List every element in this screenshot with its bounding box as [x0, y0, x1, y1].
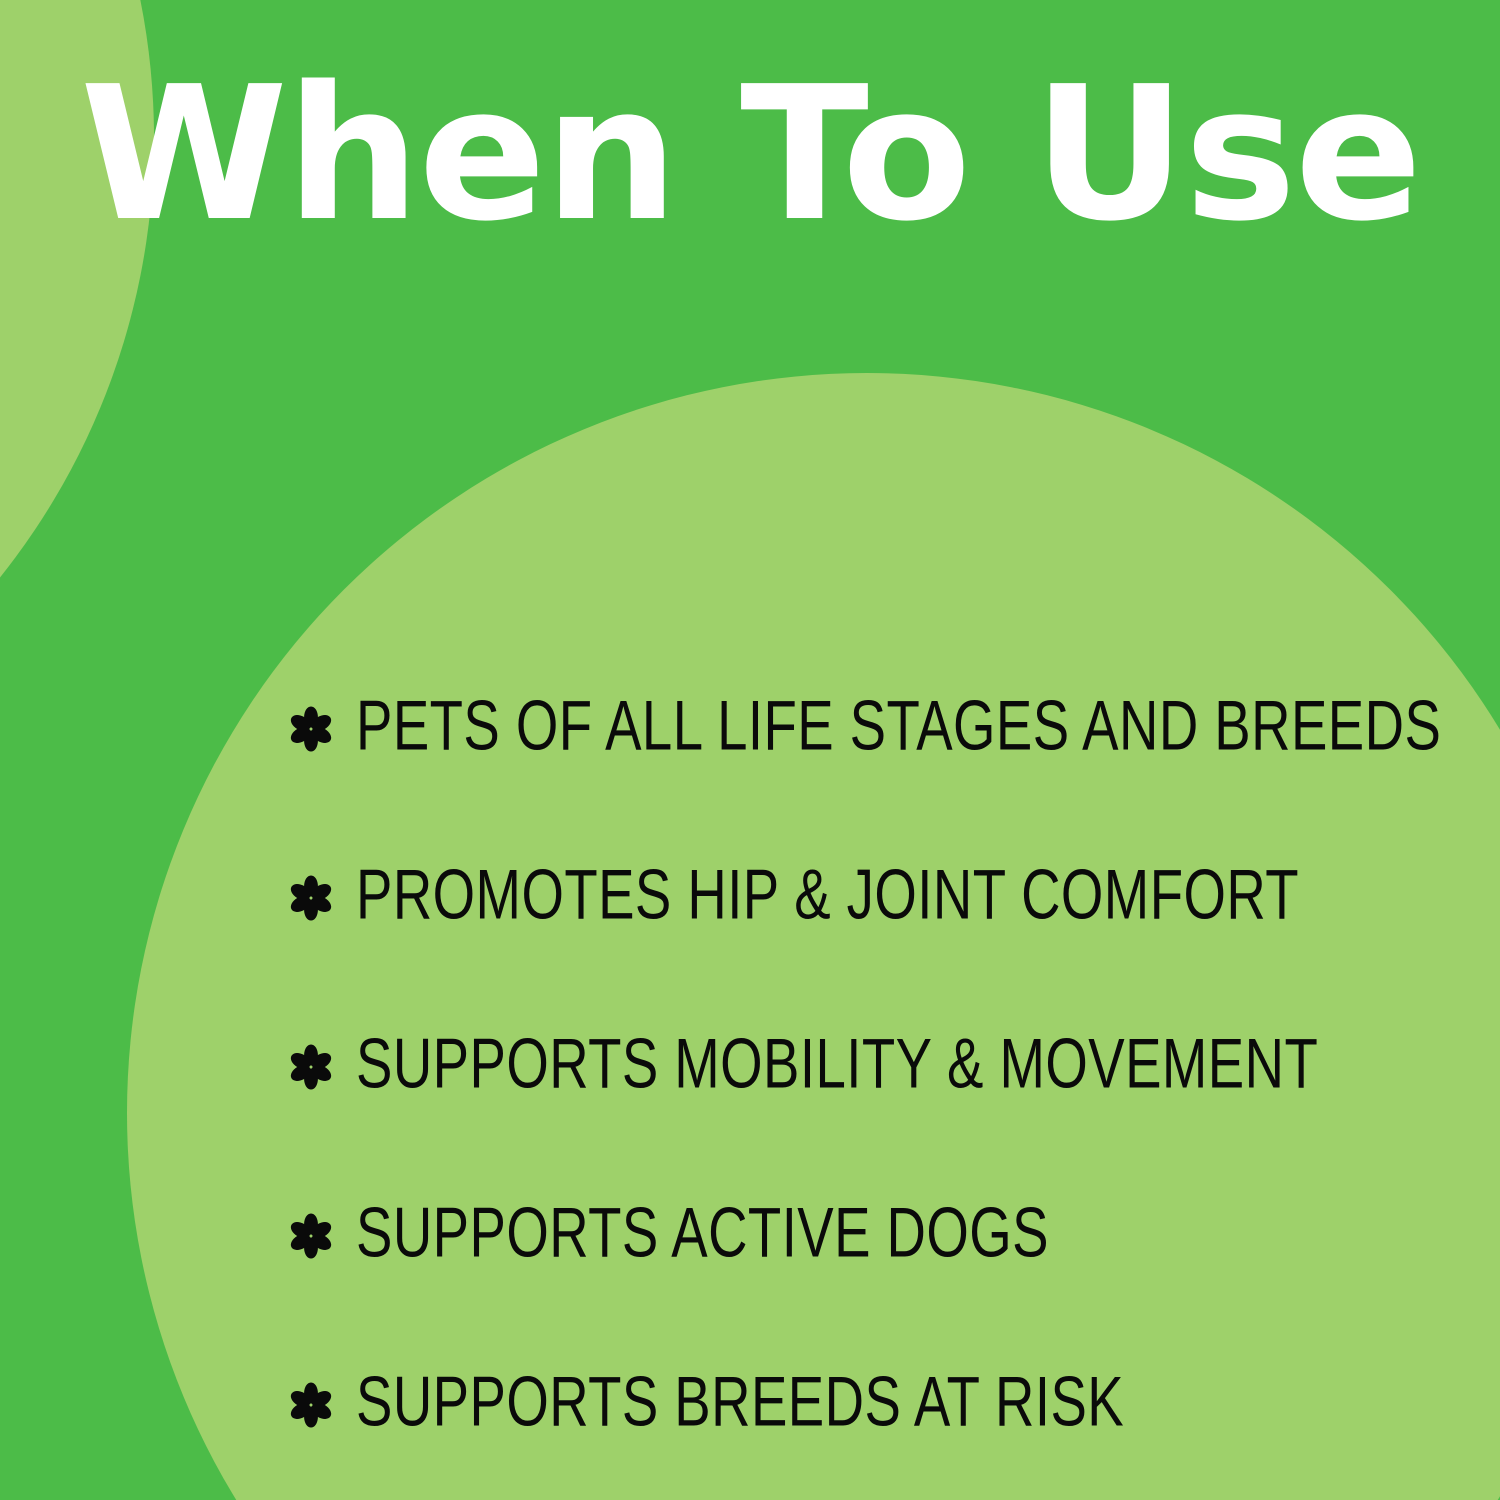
list-item: PROMOTES HIP & JOINT COMFORT [288, 837, 1468, 955]
list-item-label: SUPPORTS BREEDS AT RISK [356, 1368, 1124, 1438]
infographic-card: When To Use PETS OF ALL LIFE STAGES AND … [0, 0, 1500, 1500]
list-item-label: SUPPORTS ACTIVE DOGS [356, 1199, 1049, 1269]
list-item-label: SUPPORTS MOBILITY & MOVEMENT [356, 1030, 1318, 1100]
list-item: SUPPORTS BREEDS AT RISK [288, 1344, 1468, 1462]
list-item: SUPPORTS ACTIVE DOGS [288, 1175, 1468, 1293]
flower-asterisk-icon [288, 706, 334, 752]
list-item: PETS OF ALL LIFE STAGES AND BREEDS [288, 668, 1468, 786]
list-item: SUPPORTS MOBILITY & MOVEMENT [288, 1006, 1468, 1124]
flower-asterisk-icon [288, 1382, 334, 1428]
list-item-label: PROMOTES HIP & JOINT COMFORT [356, 861, 1299, 931]
flower-asterisk-icon [288, 1213, 334, 1259]
flower-asterisk-icon [288, 1044, 334, 1090]
benefits-list: PETS OF ALL LIFE STAGES AND BREEDS PROMO… [288, 668, 1468, 1462]
flower-asterisk-icon [288, 875, 334, 921]
list-item-label: PETS OF ALL LIFE STAGES AND BREEDS [356, 692, 1441, 762]
